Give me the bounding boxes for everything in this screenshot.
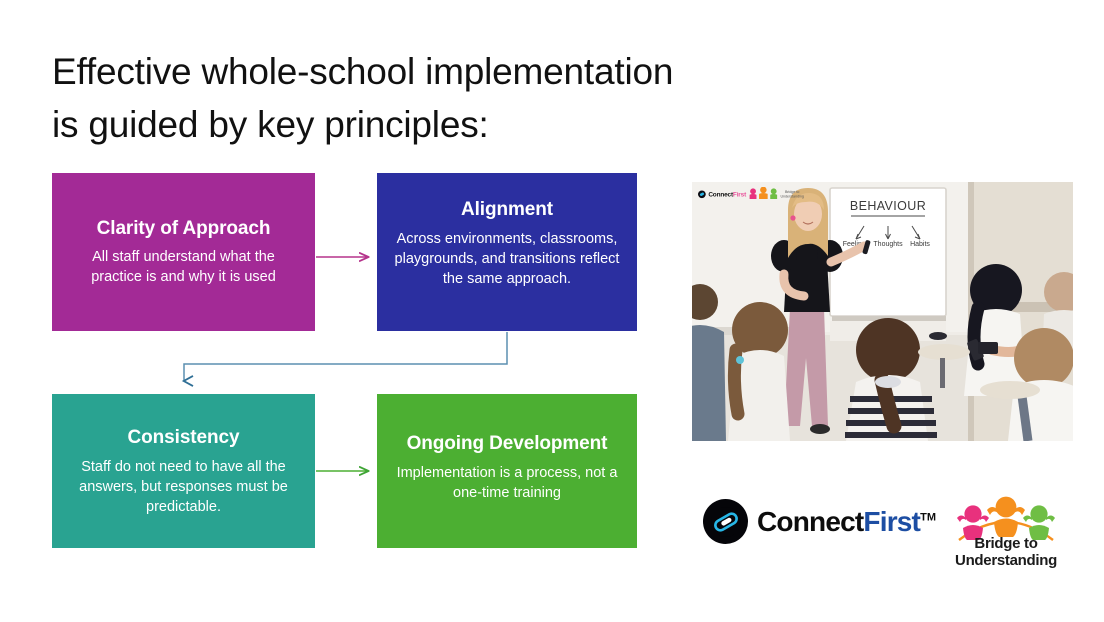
whiteboard-item-habits: Habits xyxy=(910,241,930,248)
whiteboard-item-thoughts: Thoughts xyxy=(873,241,903,248)
connectfirst-link-icon xyxy=(703,499,748,544)
principle-card-alignment[interactable]: Alignment Across environments, classroom… xyxy=(377,173,637,331)
bridge-text-line-1: Bridge to xyxy=(974,535,1037,552)
principle-card-consistency[interactable]: Consistency Staff do not need to have al… xyxy=(52,394,315,548)
whiteboard-heading-text: BEHAVIOUR xyxy=(850,199,926,213)
principle-card-body: Across environments, classrooms, playgro… xyxy=(391,229,623,289)
bridge-to-understanding-text: Bridge to Understanding xyxy=(951,536,1061,570)
principle-card-title: Alignment xyxy=(461,198,553,222)
principle-card-body: All staff understand what the practice i… xyxy=(66,247,301,287)
connectfirst-wordmark: ConnectFirstTM xyxy=(757,506,936,538)
principle-card-body: Staff do not need to have all the answer… xyxy=(66,457,301,517)
principle-card-clarity-of-approach[interactable]: Clarity of Approach All staff understand… xyxy=(52,173,315,331)
slide-canvas: Effective whole-school implementation is… xyxy=(0,0,1104,622)
connectfirst-logo: ConnectFirstTM xyxy=(703,499,936,544)
principle-card-title: Consistency xyxy=(128,426,240,450)
connector-alignment-to-consistency xyxy=(184,332,507,381)
classroom-photo: BEHAVIOUR Feelings Thoughts Habits xyxy=(692,182,1073,441)
page-title-line-1: Effective whole-school implementation xyxy=(52,46,812,99)
trademark-symbol: TM xyxy=(920,511,936,523)
classroom-photo-illustration: BEHAVIOUR Feelings Thoughts Habits xyxy=(692,182,1073,441)
watermark-tagline: Bridge to Understanding xyxy=(780,190,803,198)
watermark-link-icon xyxy=(698,190,706,198)
principle-card-title: Ongoing Development xyxy=(407,432,608,456)
bridge-text-line-2: Understanding xyxy=(955,552,1057,569)
watermark-bridge-icon xyxy=(749,187,778,202)
principle-card-body: Implementation is a process, not a one-t… xyxy=(391,463,623,503)
principle-card-ongoing-development[interactable]: Ongoing Development Implementation is a … xyxy=(377,394,637,548)
page-title: Effective whole-school implementation is… xyxy=(52,46,812,151)
watermark-brand: ConnectFirst xyxy=(708,190,746,198)
photo-watermark: ConnectFirst Bridge to Understanding xyxy=(698,187,804,202)
page-title-line-2: is guided by key principles: xyxy=(52,99,812,152)
bridge-to-understanding-logo: Bridge to Understanding xyxy=(951,496,1061,574)
principle-card-title: Clarity of Approach xyxy=(97,217,271,241)
